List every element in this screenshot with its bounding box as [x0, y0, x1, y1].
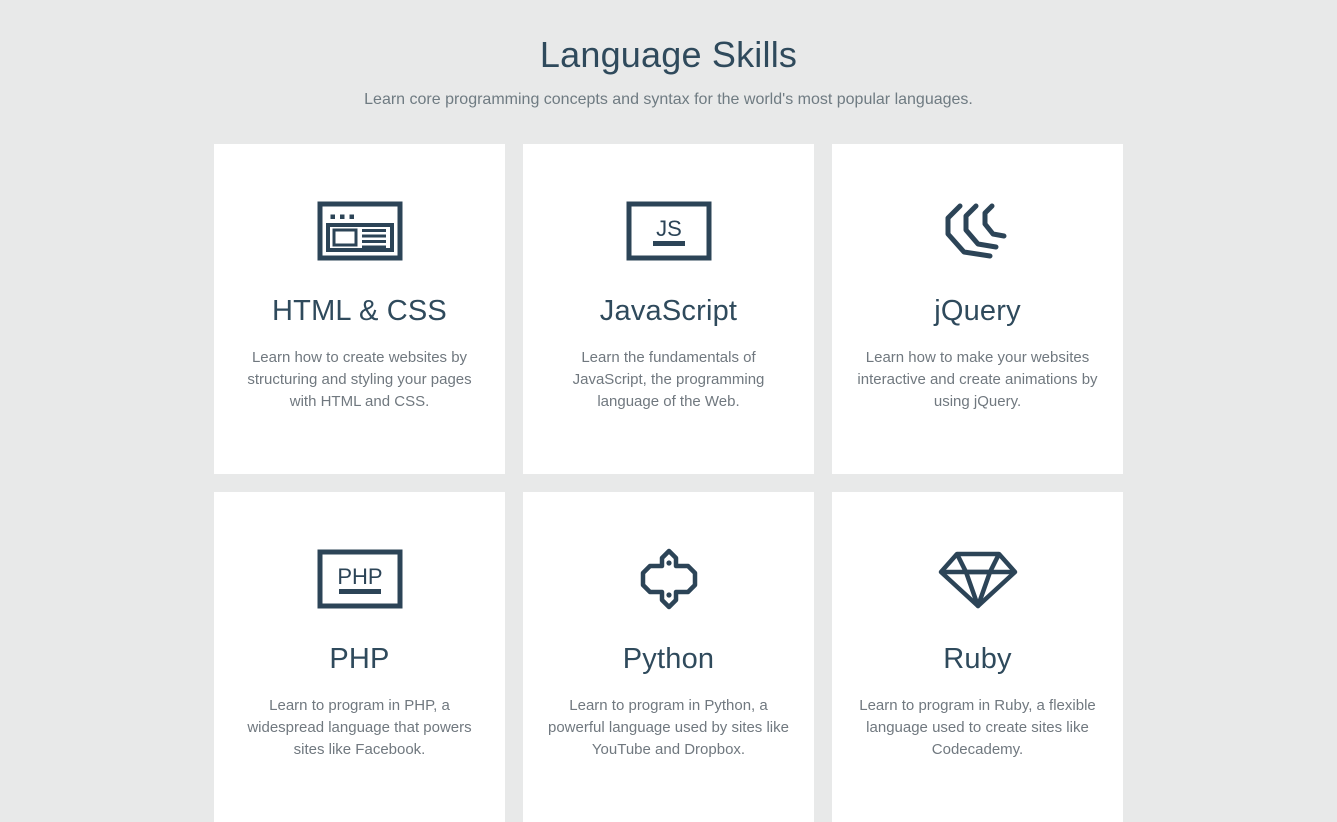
python-snakes-icon	[633, 538, 705, 620]
page-title: Language Skills	[0, 34, 1337, 75]
ruby-gem-icon	[935, 538, 1021, 620]
skill-card-title: PHP	[329, 642, 389, 677]
skill-card-title: jQuery	[934, 294, 1021, 329]
skill-card-jquery[interactable]: jQuery Learn how to make your websites i…	[832, 144, 1123, 474]
page-header: Language Skills Learn core programming c…	[0, 34, 1337, 112]
skill-card-python[interactable]: Python Learn to program in Python, a pow…	[523, 492, 814, 822]
browser-window-icon	[317, 190, 403, 272]
skill-card-description: Learn to program in Python, a powerful l…	[547, 695, 791, 761]
skill-card-php[interactable]: PHP PHP Learn to program in PHP, a wides…	[214, 492, 505, 822]
skill-card-description: Learn to program in Ruby, a flexible lan…	[856, 695, 1100, 761]
skill-card-html-css[interactable]: HTML & CSS Learn how to create websites …	[214, 144, 505, 474]
skill-card-description: Learn how to create websites by structur…	[238, 347, 482, 413]
skill-card-description: Learn how to make your websites interact…	[856, 347, 1100, 413]
skill-card-description: Learn the fundamentals of JavaScript, th…	[547, 347, 791, 413]
php-badge-icon: PHP	[317, 538, 403, 620]
page-subtitle: Learn core programming concepts and synt…	[0, 89, 1337, 111]
skill-card-ruby[interactable]: Ruby Learn to program in Ruby, a flexibl…	[832, 492, 1123, 822]
skill-card-title: Ruby	[943, 642, 1012, 677]
skill-card-title: Python	[623, 642, 715, 677]
skill-card-description: Learn to program in PHP, a widespread la…	[238, 695, 482, 761]
js-badge-icon: JS	[626, 190, 712, 272]
skill-card-grid: HTML & CSS Learn how to create websites …	[214, 144, 1123, 822]
skill-card-title: JavaScript	[600, 294, 737, 329]
skill-card-javascript[interactable]: JS JavaScript Learn the fundamentals of …	[523, 144, 814, 474]
jquery-arcs-icon	[938, 190, 1018, 272]
js-badge-label: JS	[656, 216, 682, 241]
php-badge-label: PHP	[337, 564, 382, 589]
page-root: Language Skills Learn core programming c…	[0, 0, 1337, 822]
skill-card-title: HTML & CSS	[272, 294, 447, 329]
